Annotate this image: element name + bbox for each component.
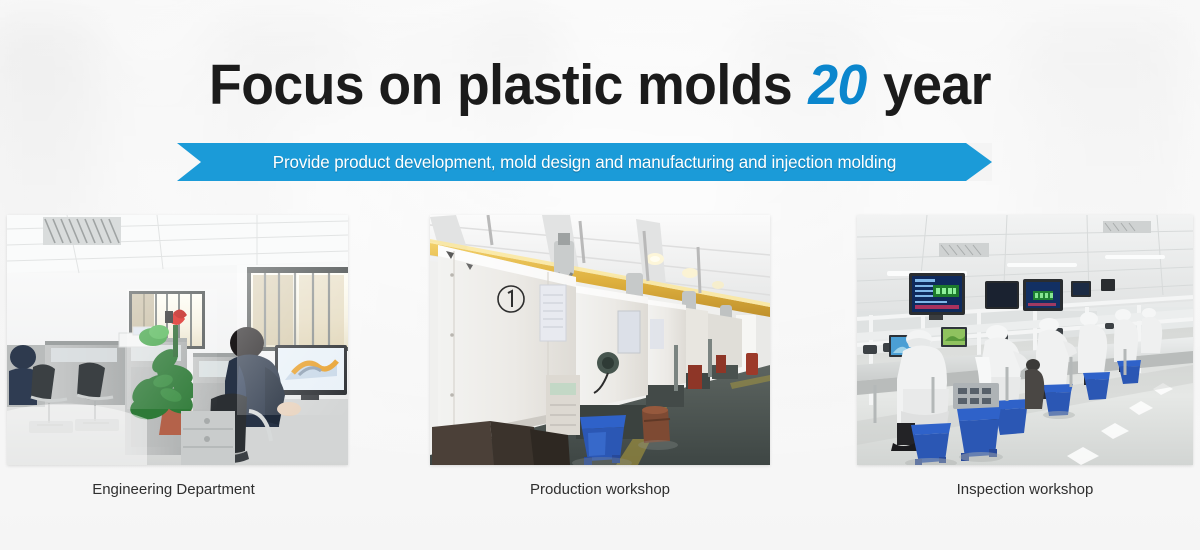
photo-caption-production: Production workshop (430, 481, 770, 498)
photo-engineering-department (7, 215, 348, 465)
photo-card-inspection[interactable]: Inspection workshop (857, 215, 1193, 498)
photo-card-production[interactable]: Production workshop (430, 215, 770, 498)
photo-card-list: Engineering Department (0, 0, 1200, 550)
photo-caption-engineering: Engineering Department (3, 481, 344, 498)
photo-inspection-workshop (857, 215, 1193, 465)
photo-production-workshop (430, 215, 770, 465)
photo-card-engineering[interactable]: Engineering Department (7, 215, 348, 498)
photo-caption-inspection: Inspection workshop (857, 481, 1193, 498)
